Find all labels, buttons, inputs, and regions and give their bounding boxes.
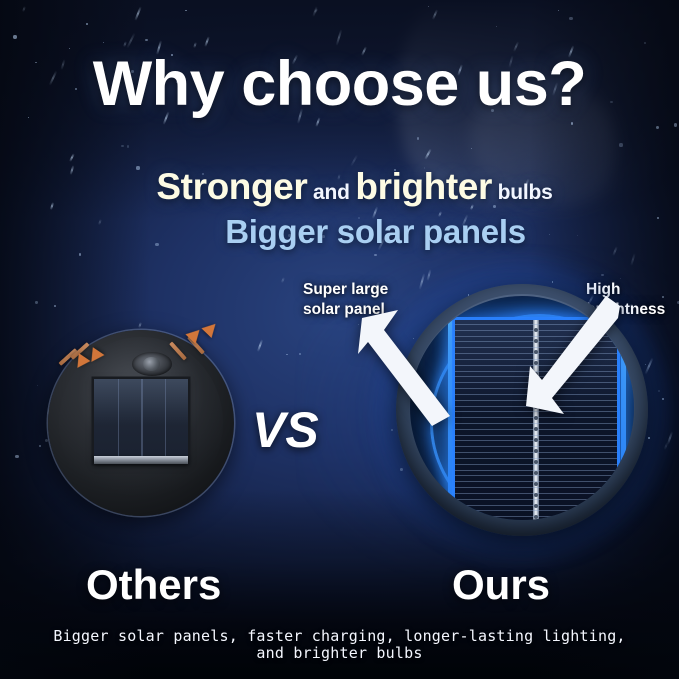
ours-panel-busbar-dot xyxy=(534,471,538,475)
ours-panel-busbar-dot xyxy=(534,504,538,508)
others-panel-cell-line xyxy=(165,379,167,463)
background-particle xyxy=(569,17,572,20)
ours-panel-finger-line xyxy=(455,475,617,476)
subheadline-brighter: brighter xyxy=(355,166,492,207)
ours-panel-finger-line xyxy=(455,458,617,459)
subheadline-line-1: Stronger and brighter bulbs xyxy=(0,166,679,208)
ours-panel-finger-line xyxy=(455,446,617,447)
others-solar-panel xyxy=(94,379,188,463)
subheadline-bulbs: bulbs xyxy=(498,181,553,204)
background-particle xyxy=(86,23,88,25)
background-particle xyxy=(15,455,18,458)
background-particle xyxy=(35,301,37,303)
arrow-up-left-icon xyxy=(358,296,454,426)
subheadline-and: and xyxy=(313,181,350,204)
page-title: Why choose us? xyxy=(0,48,679,120)
footer-caption-line-2: and brighter bulbs xyxy=(0,645,679,662)
ours-panel-busbar-dot xyxy=(534,438,538,442)
background-particle xyxy=(13,35,16,38)
background-particle xyxy=(674,123,677,126)
ours-label: Ours xyxy=(452,561,550,609)
footer-caption: Bigger solar panels, faster charging, lo… xyxy=(0,628,679,662)
others-panel-cell-line xyxy=(141,379,143,463)
footer-caption-line-1: Bigger solar panels, faster charging, lo… xyxy=(53,627,625,645)
ours-panel-busbar-dot xyxy=(534,515,538,519)
marketing-image-canvas: Why choose us? Stronger and brighter bul… xyxy=(0,0,679,679)
background-particle xyxy=(417,137,420,140)
ours-panel-busbar-dot xyxy=(534,493,538,497)
others-panel-strip xyxy=(94,456,188,464)
subheadline-line-2: Bigger solar panels xyxy=(0,213,679,251)
background-particle xyxy=(286,354,287,355)
background-particle xyxy=(121,145,123,147)
background-particle xyxy=(145,39,147,41)
background-particle xyxy=(54,305,56,307)
others-sensor-lens-inner-icon xyxy=(143,357,160,371)
background-particle xyxy=(299,353,301,355)
ours-panel-finger-line xyxy=(455,510,617,511)
others-panel-cell-line xyxy=(118,379,120,463)
ours-panel-finger-line xyxy=(455,499,617,500)
background-particle xyxy=(79,253,81,255)
background-particle xyxy=(571,122,573,124)
arrow-down-left-icon xyxy=(524,296,624,428)
background-particle xyxy=(374,254,376,256)
ours-panel-busbar-dot xyxy=(534,449,538,453)
ours-panel-busbar-dot xyxy=(534,460,538,464)
ours-panel-finger-line xyxy=(455,435,617,436)
others-product-image xyxy=(48,330,234,516)
ours-panel-finger-line xyxy=(455,487,617,488)
ours-panel-busbar-dot xyxy=(534,482,538,486)
subheadline-stronger: Stronger xyxy=(156,166,307,207)
background-particle xyxy=(619,143,622,146)
background-particle xyxy=(656,126,659,129)
others-label: Others xyxy=(86,561,221,609)
versus-divider: VS xyxy=(252,401,319,459)
